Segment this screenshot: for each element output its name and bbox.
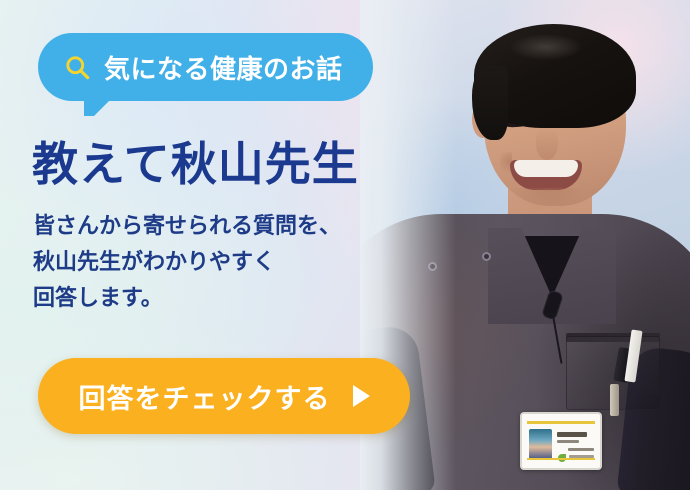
description-line-3: 回答します。: [33, 280, 341, 316]
smiling-mouth: [510, 160, 582, 190]
chin-shadow: [512, 188, 584, 210]
staff-id-badge: [520, 412, 602, 470]
description-text: 皆さんから寄せられる質問を、 秋山先生がわかりやすく 回答します。: [33, 208, 341, 316]
description-line-1: 皆さんから寄せられる質問を、: [33, 208, 341, 244]
hair-highlight: [510, 34, 582, 60]
search-icon: [64, 54, 91, 81]
doctor-photo: [360, 0, 690, 490]
topic-badge-label: 気になる健康のお話: [104, 49, 343, 86]
topic-badge[interactable]: 気になる健康のお話: [38, 33, 373, 101]
badge-bottom-stripe: [527, 458, 595, 460]
description-line-2: 秋山先生がわかりやすく: [33, 244, 341, 280]
health-promo-banner: 気になる健康のお話 教えて秋山先生 皆さんから寄せられる質問を、 秋山先生がわか…: [0, 0, 690, 490]
badge-subtitle-line: [557, 440, 579, 443]
badge-top-stripe: [527, 421, 595, 424]
badge-detail-line: [568, 448, 594, 451]
shoulder-snap-left: [428, 262, 437, 271]
teeth: [514, 160, 578, 177]
check-answers-button[interactable]: 回答をチェックする: [38, 358, 410, 434]
lanyard-clip: [610, 384, 619, 416]
play-arrow-icon: [353, 385, 370, 407]
speech-bubble-tail: [84, 99, 111, 116]
check-answers-label: 回答をチェックする: [79, 377, 331, 416]
topic-badge-body[interactable]: 気になる健康のお話: [38, 33, 373, 101]
shoulder-snap-right: [482, 252, 491, 261]
badge-name-line: [557, 432, 587, 437]
badge-photo: [529, 429, 552, 459]
nose: [536, 128, 558, 160]
page-title: 教えて秋山先生: [32, 128, 359, 194]
